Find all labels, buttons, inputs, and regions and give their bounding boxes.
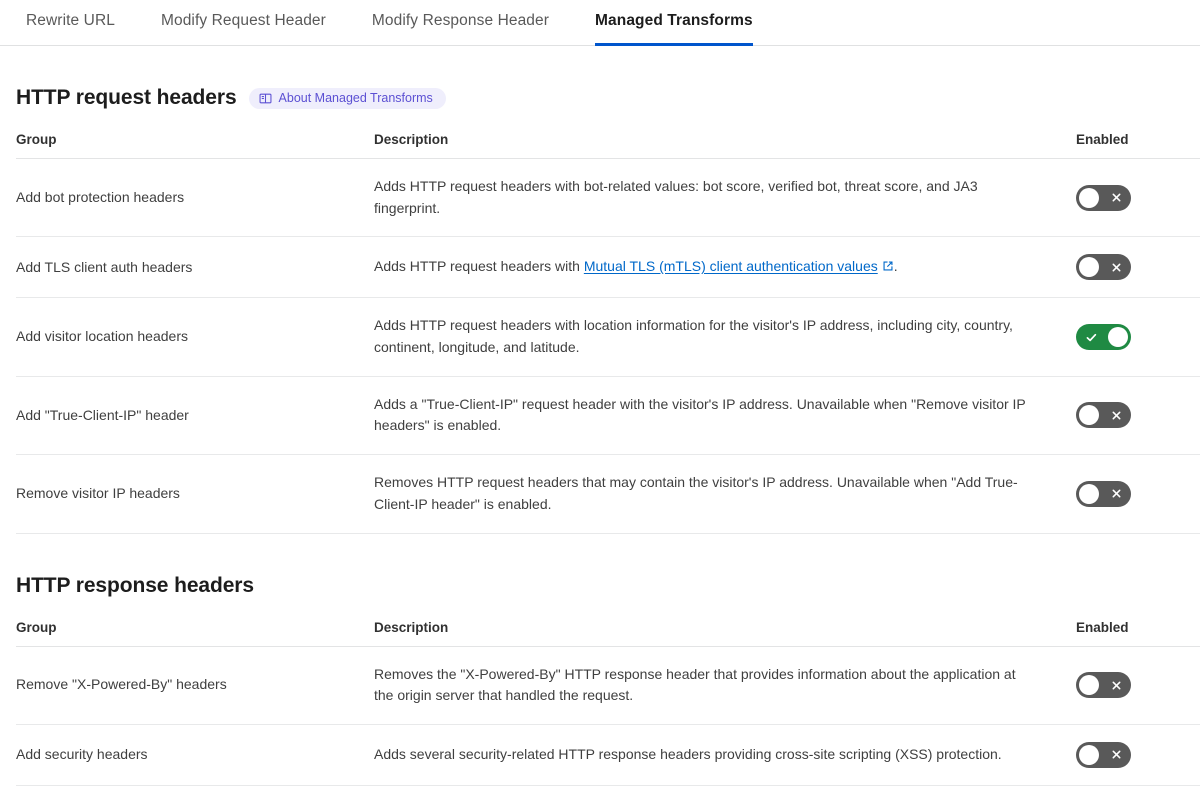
row-description: Removes the "X-Powered-By" HTTP response… — [374, 646, 1076, 724]
request-headers-table: Group Description Enabled Add bot protec… — [16, 132, 1200, 534]
section-header: HTTP request headers About Managed Trans… — [16, 86, 1184, 110]
tab-modify-request-header[interactable]: Modify Request Header — [161, 0, 326, 46]
toggle-knob — [1079, 405, 1099, 425]
row-group-label: Add visitor location headers — [16, 298, 374, 376]
enabled-toggle[interactable] — [1076, 481, 1131, 507]
toggle-knob — [1079, 188, 1099, 208]
description-text-after: . — [894, 258, 898, 274]
column-header-description: Description — [374, 620, 1076, 647]
row-description: Adds HTTP request headers with bot-relat… — [374, 159, 1076, 237]
table-row: Add security headers Adds several securi… — [16, 724, 1200, 785]
about-managed-transforms-badge[interactable]: About Managed Transforms — [249, 88, 446, 109]
row-group-label: Add TLS client auth headers — [16, 237, 374, 298]
row-enabled-cell — [1076, 724, 1200, 785]
check-icon — [1078, 324, 1104, 350]
toggle-knob — [1079, 484, 1099, 504]
enabled-toggle[interactable] — [1076, 185, 1131, 211]
cross-icon — [1103, 185, 1129, 211]
enabled-toggle[interactable] — [1076, 324, 1131, 350]
row-description: Adds HTTP request headers with Mutual TL… — [374, 237, 1076, 298]
external-link-icon[interactable] — [882, 257, 894, 279]
row-enabled-cell — [1076, 298, 1200, 376]
tab-modify-response-header[interactable]: Modify Response Header — [372, 0, 549, 46]
cross-icon — [1103, 742, 1129, 768]
column-header-enabled: Enabled — [1076, 620, 1200, 647]
row-group-label: Remove "X-Powered-By" headers — [16, 646, 374, 724]
table-row: Remove visitor IP headers Removes HTTP r… — [16, 455, 1200, 533]
book-icon — [259, 92, 272, 105]
table-header-row: Group Description Enabled — [16, 132, 1200, 159]
toggle-knob — [1108, 327, 1128, 347]
row-description: Adds HTTP request headers with location … — [374, 298, 1076, 376]
table-header-row: Group Description Enabled — [16, 620, 1200, 647]
row-enabled-cell — [1076, 376, 1200, 454]
row-group-label: Add security headers — [16, 724, 374, 785]
mtls-documentation-link[interactable]: Mutual TLS (mTLS) client authentication … — [584, 258, 878, 274]
tab-managed-transforms[interactable]: Managed Transforms — [595, 0, 753, 46]
row-enabled-cell — [1076, 237, 1200, 298]
row-group-label: Add bot protection headers — [16, 159, 374, 237]
cross-icon — [1103, 672, 1129, 698]
cross-icon — [1103, 254, 1129, 280]
response-headers-table: Group Description Enabled Remove "X-Powe… — [16, 620, 1200, 786]
toggle-knob — [1079, 745, 1099, 765]
tab-rewrite-url[interactable]: Rewrite URL — [26, 0, 115, 46]
column-header-group: Group — [16, 620, 374, 647]
description-text-before: Adds HTTP request headers with — [374, 258, 584, 274]
page-title: HTTP request headers — [16, 86, 237, 110]
row-enabled-cell — [1076, 455, 1200, 533]
column-header-description: Description — [374, 132, 1076, 159]
row-enabled-cell — [1076, 159, 1200, 237]
row-description: Adds a "True-Client-IP" request header w… — [374, 376, 1076, 454]
row-description: Adds several security-related HTTP respo… — [374, 724, 1076, 785]
section-http-request-headers: HTTP request headers About Managed Trans… — [0, 86, 1200, 534]
row-description: Removes HTTP request headers that may co… — [374, 455, 1076, 533]
column-header-enabled: Enabled — [1076, 132, 1200, 159]
cross-icon — [1103, 402, 1129, 428]
column-header-group: Group — [16, 132, 374, 159]
row-enabled-cell — [1076, 646, 1200, 724]
toggle-knob — [1079, 257, 1099, 277]
tab-bar: Rewrite URL Modify Request Header Modify… — [0, 0, 1200, 46]
section-http-response-headers: HTTP response headers Group Description … — [0, 574, 1200, 786]
table-row: Add bot protection headers Adds HTTP req… — [16, 159, 1200, 237]
toggle-knob — [1079, 675, 1099, 695]
enabled-toggle[interactable] — [1076, 742, 1131, 768]
cross-icon — [1103, 481, 1129, 507]
enabled-toggle[interactable] — [1076, 402, 1131, 428]
row-group-label: Remove visitor IP headers — [16, 455, 374, 533]
enabled-toggle[interactable] — [1076, 254, 1131, 280]
table-row: Remove "X-Powered-By" headers Removes th… — [16, 646, 1200, 724]
section-title-response: HTTP response headers — [16, 574, 1184, 598]
table-row: Add visitor location headers Adds HTTP r… — [16, 298, 1200, 376]
table-row: Add TLS client auth headers Adds HTTP re… — [16, 237, 1200, 298]
enabled-toggle[interactable] — [1076, 672, 1131, 698]
row-group-label: Add "True-Client-IP" header — [16, 376, 374, 454]
table-row: Add "True-Client-IP" header Adds a "True… — [16, 376, 1200, 454]
badge-label: About Managed Transforms — [279, 92, 433, 105]
